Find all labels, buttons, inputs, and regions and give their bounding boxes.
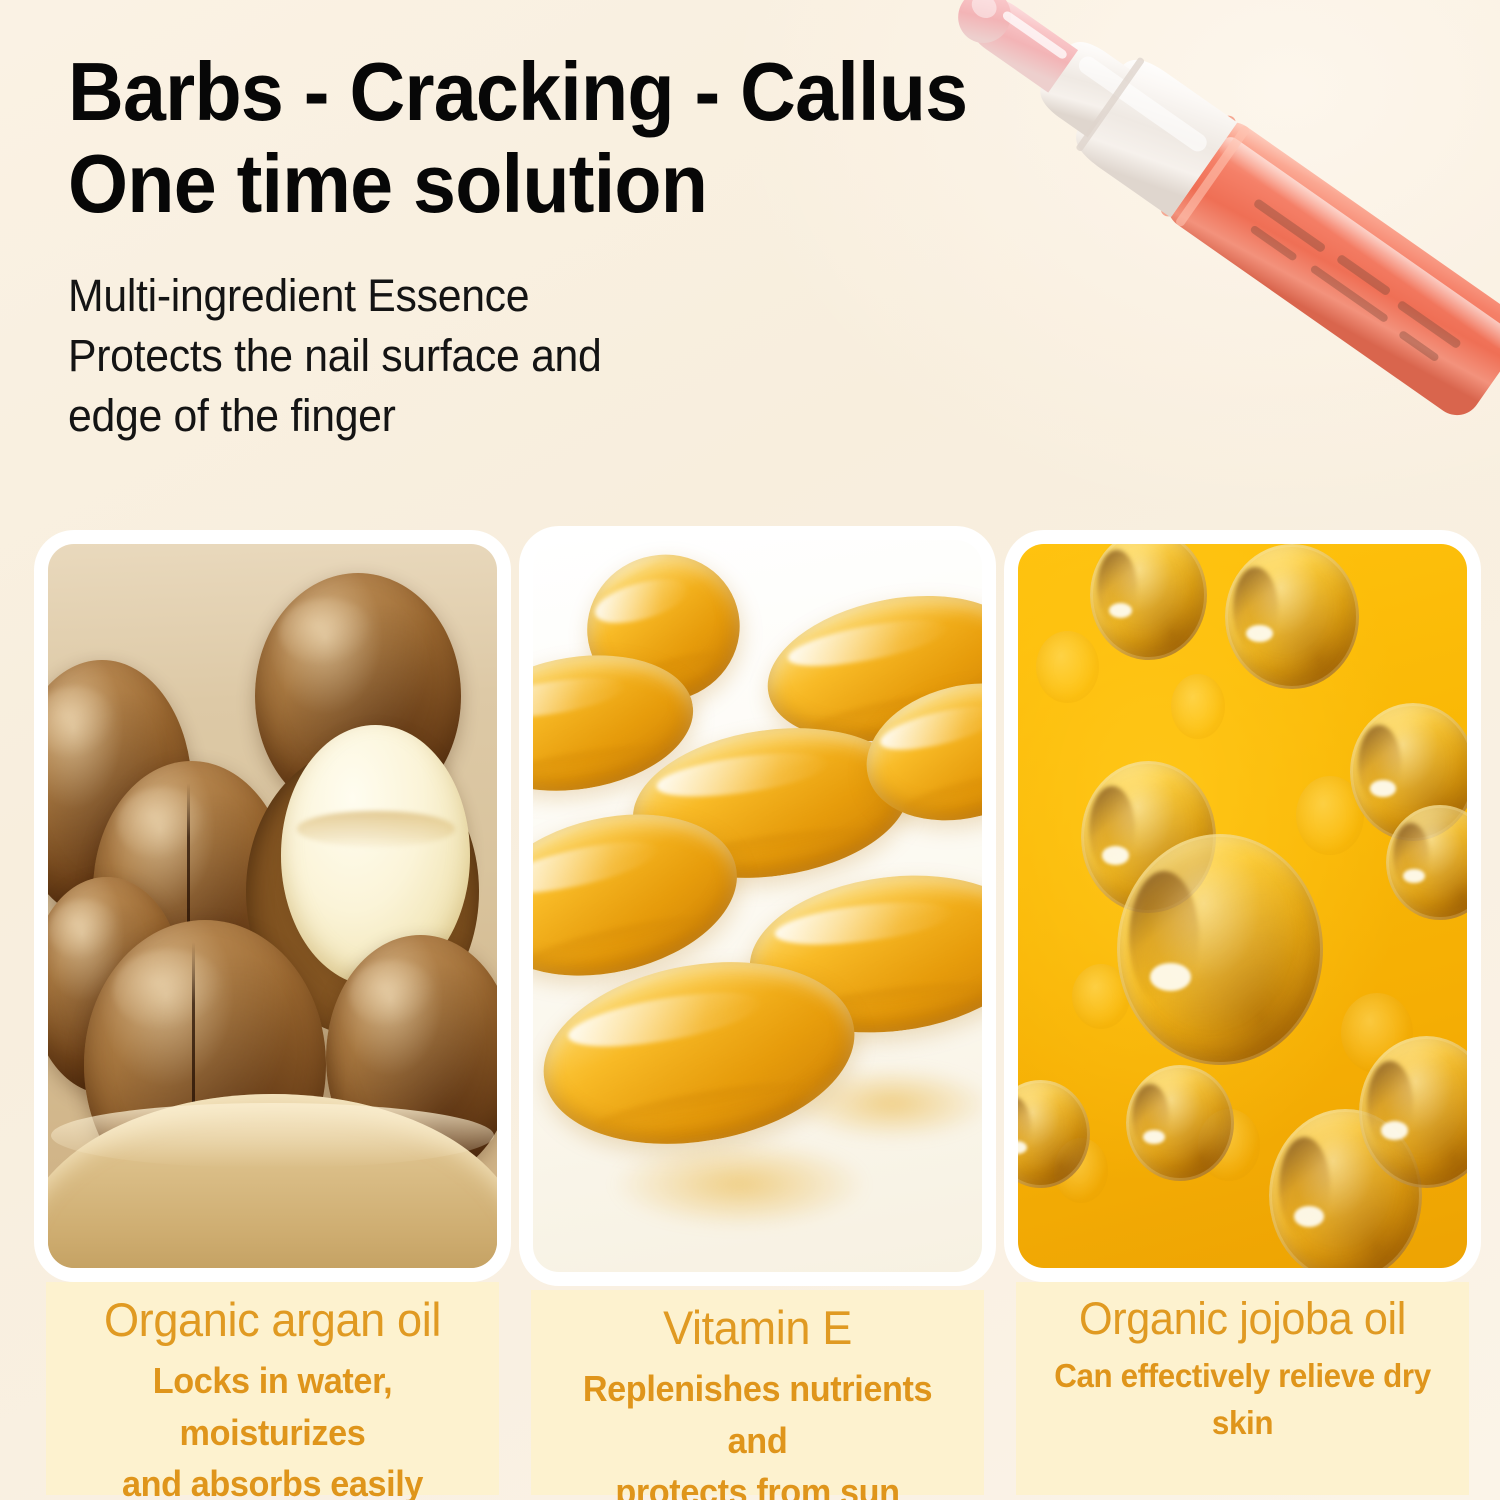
photo-macadamia-nuts <box>48 544 497 1268</box>
ingredient-card-organic-argan-oil[interactable]: Organic argan oil Locks in water, moistu… <box>30 530 515 1500</box>
caption-organic-argan-oil: Organic argan oil Locks in water, moistu… <box>46 1282 499 1495</box>
caption-body: Locks in water, moisturizes and absorbs … <box>67 1355 478 1500</box>
photo-jojoba-oil-bubbles <box>1018 544 1467 1268</box>
caption-body: Replenishes nutrients and protects from … <box>552 1363 963 1500</box>
product-infographic-poster: Barbs - Cracking - Callus One time solut… <box>0 0 1500 1500</box>
ingredient-card-organic-jojoba-oil[interactable]: Organic jojoba oil Can effectively relie… <box>1000 530 1485 1500</box>
photo-vitamin-e-capsules <box>533 540 982 1272</box>
caption-title: Organic jojoba oil <box>1035 1292 1451 1345</box>
caption-vitamin-e: Vitamin E Replenishes nutrients and prot… <box>531 1290 984 1495</box>
caption-organic-jojoba-oil: Organic jojoba oil Can effectively relie… <box>1016 1282 1469 1495</box>
header-text-block: Barbs - Cracking - Callus One time solut… <box>68 46 1138 446</box>
ingredient-card-vitamin-e[interactable]: Vitamin E Replenishes nutrients and prot… <box>515 530 1000 1500</box>
ingredient-card-row: Organic argan oil Locks in water, moistu… <box>0 530 1500 1500</box>
caption-title: Vitamin E <box>550 1300 966 1355</box>
page-subtitle: Multi-ingredient Essence Protects the na… <box>68 266 1085 446</box>
page-title: Barbs - Cracking - Callus One time solut… <box>68 46 1063 230</box>
caption-body: Can effectively relieve dry skin <box>1037 1353 1448 1447</box>
caption-title: Organic argan oil <box>65 1292 481 1347</box>
